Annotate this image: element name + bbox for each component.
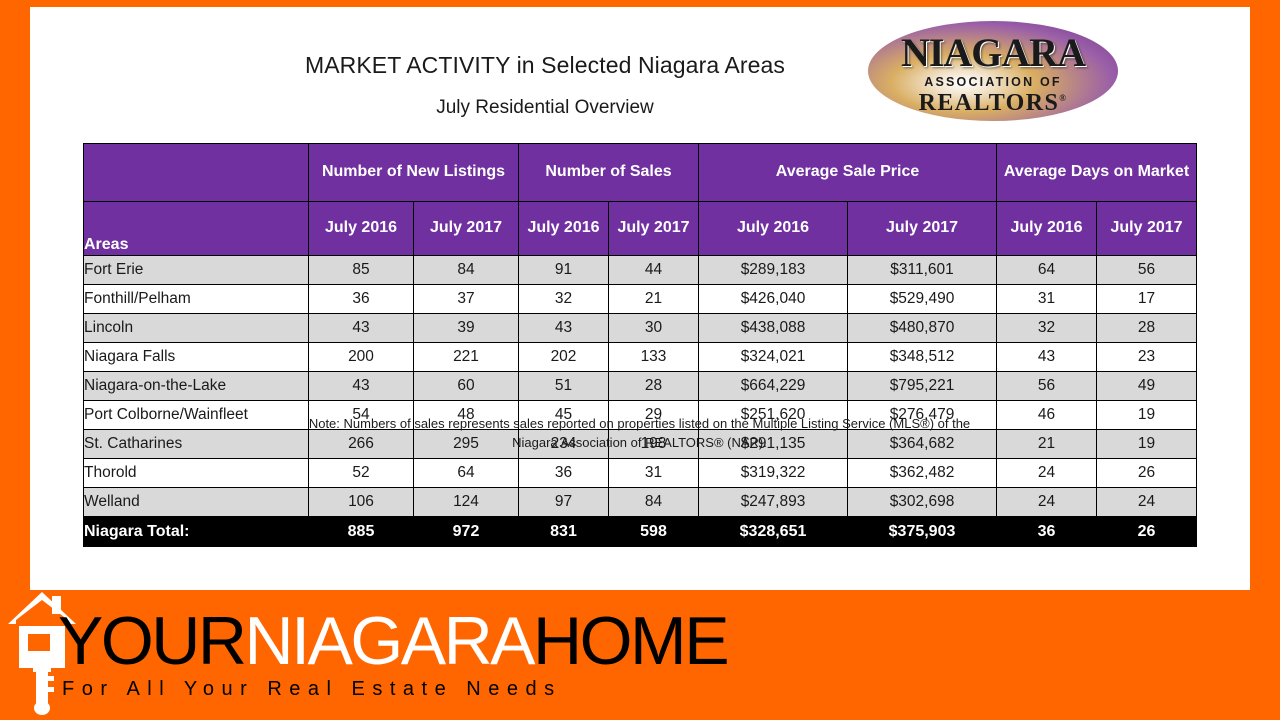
year-header-row: Areas July 2016 July 2017 July 2016 July… — [84, 202, 1197, 256]
logo-text-association-of: ASSOCIATION OF — [868, 76, 1118, 89]
cell-sales-2017: 31 — [609, 459, 699, 488]
cell-sales-2016: 36 — [519, 459, 609, 488]
cell-price-2017: $480,870 — [848, 314, 997, 343]
cell-price-2016: $247,893 — [699, 488, 848, 517]
cell-new-2016: 200 — [309, 343, 414, 372]
cell-area-name: Niagara Falls — [84, 343, 309, 372]
cell-total-sales-2017: 598 — [609, 517, 699, 547]
footnote: Note: Numbers of sales represents sales … — [83, 415, 1196, 453]
cell-total-sales-2016: 831 — [519, 517, 609, 547]
cell-area-name: Fonthill/Pelham — [84, 285, 309, 314]
cell-sales-2017: 133 — [609, 343, 699, 372]
header-sales-2017: July 2017 — [609, 202, 699, 256]
cell-dom-2016: 31 — [997, 285, 1097, 314]
table-row: Fort Erie85849144$289,183$311,6016456 — [84, 256, 1197, 285]
table-row: Niagara Falls200221202133$324,021$348,51… — [84, 343, 1197, 372]
cell-sales-2016: 51 — [519, 372, 609, 401]
cell-sales-2017: 30 — [609, 314, 699, 343]
logo-text-niagara: NIAGARA — [868, 33, 1118, 73]
cell-dom-2017: 23 — [1097, 343, 1197, 372]
table-row: Fonthill/Pelham36373221$426,040$529,4903… — [84, 285, 1197, 314]
cell-new-2016: 43 — [309, 372, 414, 401]
cell-price-2017: $302,698 — [848, 488, 997, 517]
header-price-2017: July 2017 — [848, 202, 997, 256]
group-header-row: Number of New Listings Number of Sales A… — [84, 144, 1197, 202]
cell-new-2016: 43 — [309, 314, 414, 343]
header-dom-2017: July 2017 — [1097, 202, 1197, 256]
cell-total-new-2016: 885 — [309, 517, 414, 547]
cell-price-2016: $324,021 — [699, 343, 848, 372]
logo-oval-shape: NIAGARA ASSOCIATION OF REALTORS® — [868, 21, 1118, 121]
cell-total-price-2017: $375,903 — [848, 517, 997, 547]
cell-sales-2016: 202 — [519, 343, 609, 372]
cell-new-2017: 124 — [414, 488, 519, 517]
cell-dom-2017: 24 — [1097, 488, 1197, 517]
cell-new-2016: 36 — [309, 285, 414, 314]
cell-sales-2017: 84 — [609, 488, 699, 517]
cell-sales-2016: 97 — [519, 488, 609, 517]
cell-area-name: Niagara-on-the-Lake — [84, 372, 309, 401]
cell-sales-2016: 91 — [519, 256, 609, 285]
cell-area-name: Lincoln — [84, 314, 309, 343]
header-new-listings-2017: July 2017 — [414, 202, 519, 256]
logo-text-realtors-word: REALTORS — [919, 90, 1060, 116]
slide-content-sheet: MARKET ACTIVITY in Selected Niagara Area… — [30, 7, 1250, 590]
header-block: MARKET ACTIVITY in Selected Niagara Area… — [30, 7, 1250, 132]
cell-new-2016: 52 — [309, 459, 414, 488]
cell-total-dom-2016: 36 — [997, 517, 1097, 547]
table-row: Thorold52643631$319,322$362,4822426 — [84, 459, 1197, 488]
cell-sales-2017: 28 — [609, 372, 699, 401]
cell-price-2016: $426,040 — [699, 285, 848, 314]
cell-new-2017: 84 — [414, 256, 519, 285]
cell-area-name: Thorold — [84, 459, 309, 488]
brand-tagline: For All Your Real Estate Needs — [62, 678, 562, 701]
brand-word-your: YOUR — [58, 603, 244, 679]
cell-dom-2017: 17 — [1097, 285, 1197, 314]
cell-new-2017: 64 — [414, 459, 519, 488]
cell-price-2016: $289,183 — [699, 256, 848, 285]
logo-text-realtors: REALTORS® — [868, 91, 1118, 115]
market-activity-table: Number of New Listings Number of Sales A… — [83, 143, 1197, 547]
header-corner-blank — [84, 144, 309, 202]
brand-word-niagara: NIAGARA — [244, 603, 533, 679]
cell-total-new-2017: 972 — [414, 517, 519, 547]
table-row: Niagara-on-the-Lake43605128$664,229$795,… — [84, 372, 1197, 401]
header-price-2016: July 2016 — [699, 202, 848, 256]
header-group-average-sale-price: Average Sale Price — [699, 144, 997, 202]
niagara-association-of-realtors-logo: NIAGARA ASSOCIATION OF REALTORS® — [868, 21, 1118, 121]
cell-new-2016: 85 — [309, 256, 414, 285]
cell-new-2017: 221 — [414, 343, 519, 372]
registered-mark: ® — [1059, 93, 1067, 103]
cell-total-dom-2017: 26 — [1097, 517, 1197, 547]
brand-wordmark: YOURNIAGARAHOME — [58, 607, 727, 675]
cell-price-2017: $311,601 — [848, 256, 997, 285]
cell-total-label: Niagara Total: — [84, 517, 309, 547]
brand-word-home: HOME — [533, 603, 727, 679]
cell-dom-2017: 56 — [1097, 256, 1197, 285]
cell-dom-2017: 28 — [1097, 314, 1197, 343]
cell-price-2017: $795,221 — [848, 372, 997, 401]
cell-new-2017: 37 — [414, 285, 519, 314]
footnote-line-2: Niagara Association of REALTORS® (NAR). — [83, 434, 1196, 453]
cell-sales-2017: 44 — [609, 256, 699, 285]
cell-sales-2016: 32 — [519, 285, 609, 314]
header-group-average-days-on-market: Average Days on Market — [997, 144, 1197, 202]
cell-dom-2016: 24 — [997, 488, 1097, 517]
cell-price-2016: $319,322 — [699, 459, 848, 488]
cell-sales-2016: 43 — [519, 314, 609, 343]
header-group-number-of-sales: Number of Sales — [519, 144, 699, 202]
header-dom-2016: July 2016 — [997, 202, 1097, 256]
cell-dom-2016: 56 — [997, 372, 1097, 401]
cell-dom-2017: 26 — [1097, 459, 1197, 488]
header-areas: Areas — [84, 202, 309, 256]
footnote-line-1: Note: Numbers of sales represents sales … — [83, 415, 1196, 434]
cell-price-2016: $664,229 — [699, 372, 848, 401]
cell-price-2017: $362,482 — [848, 459, 997, 488]
cell-price-2016: $438,088 — [699, 314, 848, 343]
cell-new-2017: 60 — [414, 372, 519, 401]
table-row: Welland1061249784$247,893$302,6982424 — [84, 488, 1197, 517]
cell-sales-2017: 21 — [609, 285, 699, 314]
cell-area-name: Fort Erie — [84, 256, 309, 285]
cell-price-2017: $348,512 — [848, 343, 997, 372]
cell-dom-2016: 24 — [997, 459, 1097, 488]
table-head: Number of New Listings Number of Sales A… — [84, 144, 1197, 256]
cell-total-price-2016: $328,651 — [699, 517, 848, 547]
cell-price-2017: $529,490 — [848, 285, 997, 314]
cell-dom-2017: 49 — [1097, 372, 1197, 401]
brand-banner: YOURNIAGARAHOME For All Your Real Estate… — [0, 590, 1280, 720]
cell-dom-2016: 32 — [997, 314, 1097, 343]
header-sales-2016: July 2016 — [519, 202, 609, 256]
cell-new-2017: 39 — [414, 314, 519, 343]
cell-new-2016: 106 — [309, 488, 414, 517]
cell-dom-2016: 64 — [997, 256, 1097, 285]
header-group-new-listings: Number of New Listings — [309, 144, 519, 202]
cell-dom-2016: 43 — [997, 343, 1097, 372]
cell-area-name: Welland — [84, 488, 309, 517]
table-row: Lincoln43394330$438,088$480,8703228 — [84, 314, 1197, 343]
table-total-row: Niagara Total:885972831598$328,651$375,9… — [84, 517, 1197, 547]
header-new-listings-2016: July 2016 — [309, 202, 414, 256]
table-body: Fort Erie85849144$289,183$311,6016456Fon… — [84, 256, 1197, 547]
